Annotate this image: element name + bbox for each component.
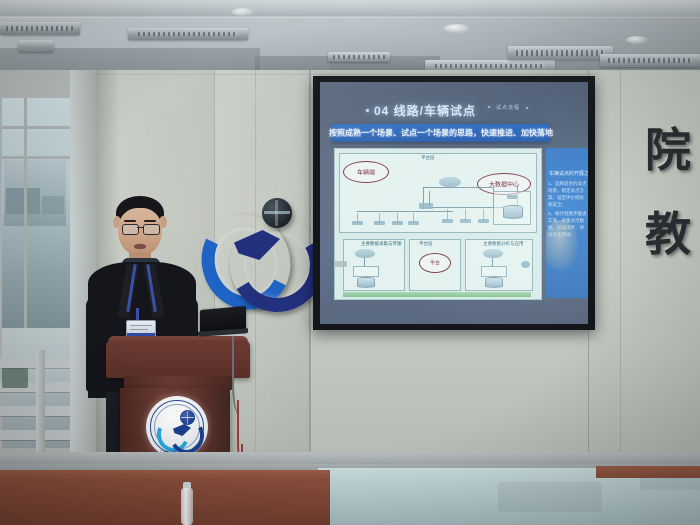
podium-top <box>106 340 250 378</box>
lower-right-db-icon <box>485 277 503 288</box>
diagram-device-7 <box>478 219 489 223</box>
diagram-bus-3 <box>423 187 493 188</box>
diagram-cloud-icon <box>439 177 461 187</box>
wall-character-1: 院 <box>645 128 691 174</box>
callout-bottom-text: 平台 <box>430 260 440 267</box>
slide-content: 04 线路/车辆试点 试点流程 按照成熟一个场景、试点一个场景的思路，快速推进、… <box>320 82 588 324</box>
lower-left-tag <box>335 261 347 267</box>
window-mullion-1 <box>2 126 70 129</box>
lower-right-block <box>481 266 507 277</box>
diagram-database-icon <box>503 205 523 219</box>
wall-character-2: 教 <box>645 212 691 258</box>
podium-emblem: 广州科技职业技术学院 <box>146 396 208 458</box>
window-mullion-2 <box>2 156 70 159</box>
diagram-dc-node <box>507 195 517 199</box>
ceiling <box>0 0 700 78</box>
lower-center-label: 平台层 <box>419 241 433 247</box>
bottle-body <box>181 488 193 525</box>
table-edge-right <box>596 466 700 478</box>
presenter-mouth <box>134 244 146 249</box>
wall-topline <box>96 74 596 75</box>
table-glass-shade <box>498 482 602 512</box>
wall-seam-4 <box>620 70 621 470</box>
projected-face-reflection <box>546 220 578 270</box>
slide-title: 04 线路/车辆试点 <box>374 102 476 119</box>
ceiling-vent-1 <box>0 22 80 35</box>
projection-screen-frame: 04 线路/车辆试点 试点流程 按照成熟一个场景、试点一个场景的思路，快速推进、… <box>313 76 595 330</box>
ceiling-light-3 <box>626 36 648 44</box>
window-decal <box>2 368 28 388</box>
callout-left-text: 车辆端 <box>357 168 375 177</box>
ceiling-vent-6 <box>600 54 700 67</box>
ceiling-seam <box>0 17 700 18</box>
lower-right-endpoint <box>521 261 530 268</box>
lower-left-db-icon <box>357 277 375 288</box>
wall-emblem <box>200 198 302 292</box>
lower-right-label: 主要数据分析与应用 <box>483 241 524 247</box>
callout-bottom: 平台 <box>419 253 451 273</box>
lower-right-cloud-icon <box>483 249 503 258</box>
window-mullion-3 <box>24 98 27 328</box>
lower-left-cloud-icon <box>355 249 375 258</box>
slide-top-label: 试点流程 <box>496 104 520 111</box>
diagram-device-3 <box>392 221 403 225</box>
window-building <box>6 188 40 214</box>
diagram-device-1 <box>352 221 363 225</box>
slide-dot-b <box>526 107 528 109</box>
vent-grill-icon <box>138 32 239 37</box>
right-panel-item-1: 1、选择适合的试点场景，制定试点方案，设定评价指标和安全； <box>548 180 588 208</box>
slide-right-panel: 车辆试点的开展之处： 1、选择适合的试点场景，制定试点方案，设定评价指标和安全；… <box>546 148 588 298</box>
ceiling-light-1 <box>232 8 254 16</box>
callout-left: 车辆端 <box>343 161 389 183</box>
ceiling-vent-5 <box>508 46 613 60</box>
vent-grill-icon <box>608 58 692 63</box>
diagram-top-label: 平台层 <box>421 155 435 161</box>
lower-left-block <box>353 266 379 277</box>
badge-line-2 <box>130 329 148 330</box>
badge-line-1 <box>130 325 152 326</box>
diagram-device-2 <box>374 221 385 225</box>
ceiling-vent-3 <box>328 52 390 62</box>
slide-banner: 按照成熟一个场景、试点一个场景的思路，快速推进、加快落地 <box>332 124 550 142</box>
front-table <box>0 478 330 525</box>
vent-grill-icon <box>333 55 385 59</box>
lower-left-link <box>364 258 365 266</box>
vent-grill-icon <box>6 26 73 31</box>
vent-grill-icon <box>435 64 544 69</box>
lower-right-link <box>492 258 493 266</box>
diagram-footer-bar <box>343 292 531 297</box>
ceiling-ac-unit <box>18 40 54 52</box>
projection-screen: 04 线路/车辆试点 试点流程 按照成熟一个场景、试点一个场景的思路，快速推进、… <box>320 82 588 324</box>
presenter-glasses-right <box>143 224 160 235</box>
slide-banner-text: 按照成熟一个场景、试点一个场景的思路，快速推进、加快落地 <box>329 128 553 139</box>
slide-dot-a <box>488 106 490 108</box>
presenter-glasses-bridge <box>137 227 143 228</box>
diagram-device-4 <box>408 221 419 225</box>
slide-diagram: 平台层 车辆端 大数据中心 <box>334 148 542 300</box>
ceiling-light-2 <box>444 24 470 33</box>
emblem-globe-icon <box>180 410 195 425</box>
diagram-device-5 <box>442 219 453 223</box>
water-bottle <box>180 482 194 525</box>
diagram-switch-node <box>419 203 433 209</box>
lower-left-label: 主要数据采集与传输 <box>361 241 402 247</box>
presentation-photo: 院 教 04 线路/车辆试点 试点流程 按照成熟一个场景、试点一个场景的思路，快… <box>0 0 700 525</box>
presenter-brow-right <box>144 220 156 222</box>
window-building-2 <box>42 196 64 214</box>
presenter-glasses-left <box>122 224 139 235</box>
title-bullet-icon <box>366 109 369 112</box>
diagram-bus-1 <box>357 211 453 212</box>
vent-grill-icon <box>516 50 604 56</box>
presenter-brow-left <box>124 220 136 222</box>
diagram-device-6 <box>460 219 471 223</box>
ceiling-strip <box>0 0 700 16</box>
globe-icon <box>262 198 292 228</box>
right-panel-heading: 车辆试点的开展之处： <box>549 170 588 177</box>
ceiling-vent-2 <box>128 28 248 40</box>
